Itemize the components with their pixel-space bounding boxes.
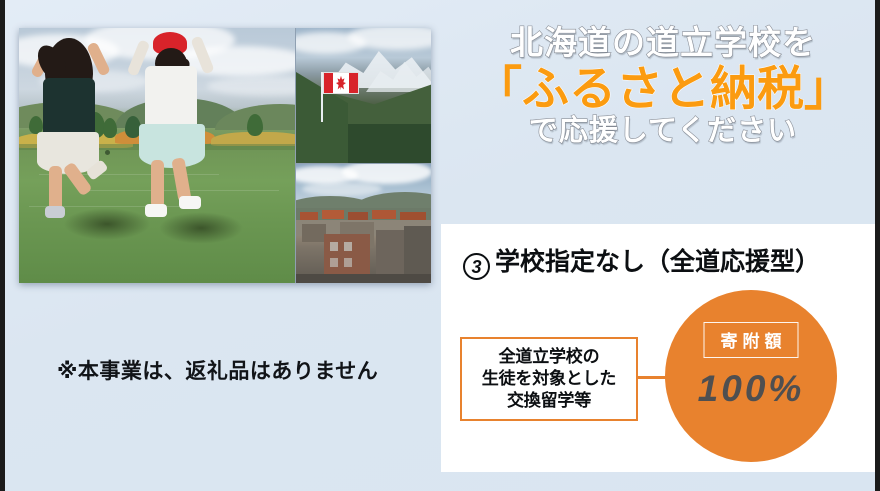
photo-collage [19,28,431,283]
bracket-open: 「 [475,62,522,115]
headline-block: 北海道の道立学校を 「ふるさと納税」 で応援してください [445,26,880,146]
figure-student-right [131,32,221,212]
usage-line-3: 交換留学等 [466,390,632,412]
usage-line-1: 全道立学校の [466,346,632,368]
donation-percent-value: 100% [698,368,805,410]
figure-student-left [37,36,113,206]
panel-title: 3学校指定なし（全道応援型） [463,242,820,280]
photo-students-jumping-on-lawn [19,28,295,283]
no-return-gift-note: ※本事業は、返礼品はありません [57,355,378,385]
bracket-close: 」 [804,62,851,115]
donation-amount-label: 寄附額 [704,322,799,358]
headline-line-1: 北海道の道立学校を [445,26,880,59]
donation-share-circle: 寄附額 100% [665,290,837,462]
connector-line [638,376,668,379]
photo-foreign-townscape [296,164,431,283]
usage-line-2: 生徒を対象とした [466,368,632,390]
canadian-flag-icon [323,72,359,94]
photo-mountain-with-canadian-flag [296,28,431,163]
headline-line-3: で応援してください [445,117,880,146]
usage-description-box: 全道立学校の 生徒を対象とした 交換留学等 [460,337,638,421]
option-number-badge: 3 [463,253,490,280]
panel-title-text: 学校指定なし（全道応援型） [495,248,820,276]
slide-canvas: 北海道の道立学校を 「ふるさと納税」 で応援してください ※本事業は、返礼品はあ… [0,0,880,491]
headline-line-2: 「ふるさと納税」 [445,65,880,112]
info-panel: 3学校指定なし（全道応援型） 寄附額 100% 全道立学校の 生徒を対象とした … [441,224,877,472]
headline-emphasis: ふるさと納税 [522,62,804,115]
